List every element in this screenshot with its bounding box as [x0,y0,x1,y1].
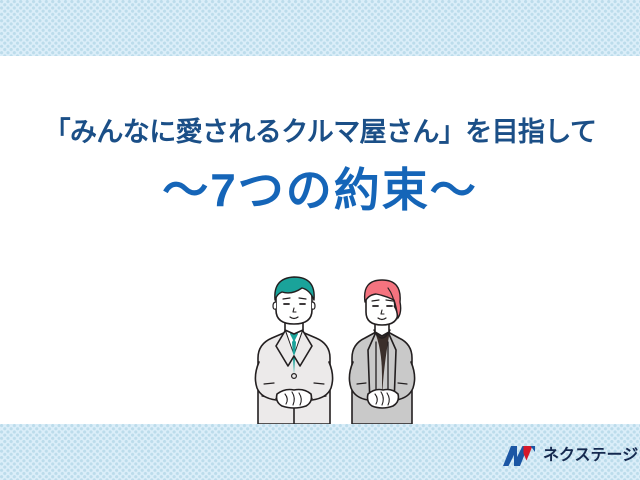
headline-block: 「みんなに愛されるクルマ屋さん」を目指して 〜7つの約束〜 [0,110,640,220]
headline-line-1: 「みんなに愛されるクルマ屋さん」を目指して [0,110,640,154]
female-staff-figure [349,280,414,424]
headline-line-2: 〜7つの約束〜 [0,160,640,220]
top-dot-band [0,0,640,56]
male-staff-figure [255,277,332,424]
promo-banner: 「みんなに愛されるクルマ屋さん」を目指して 〜7つの約束〜 [0,0,640,480]
brand-logo: ネクステージ [502,441,632,471]
staff-illustration [240,272,430,427]
nextage-n-mark [502,444,536,468]
brand-name: ネクステージ [543,448,638,464]
